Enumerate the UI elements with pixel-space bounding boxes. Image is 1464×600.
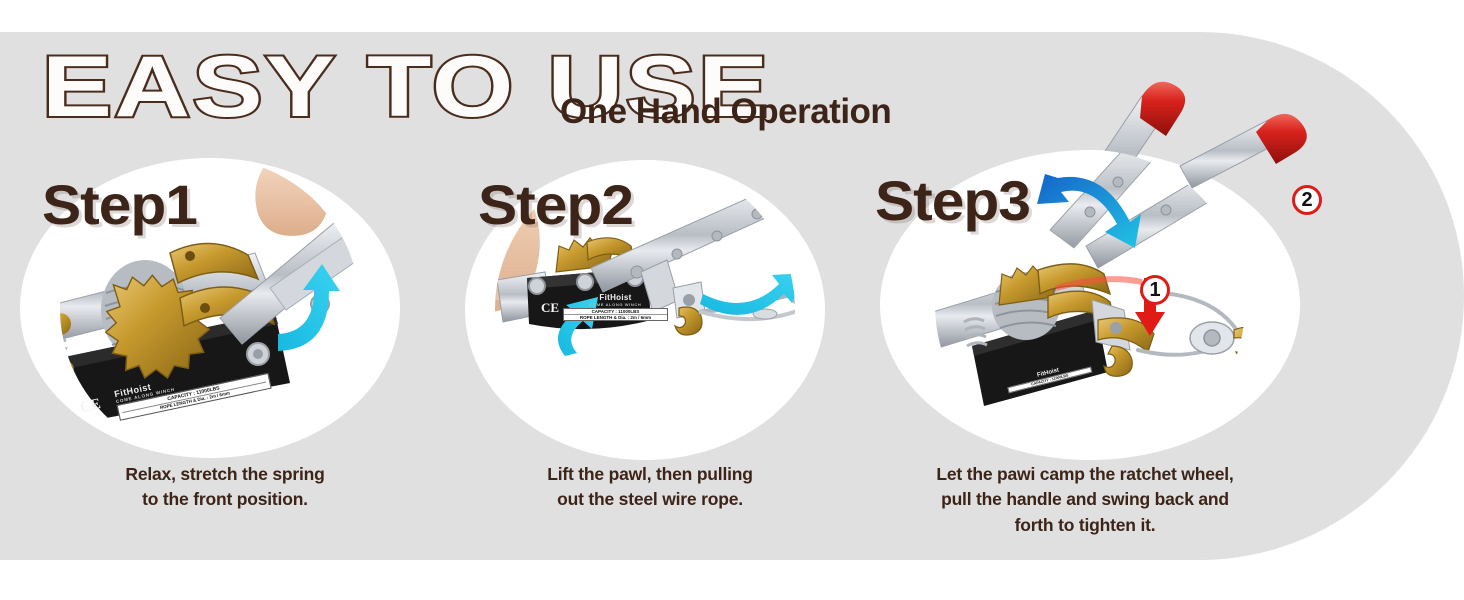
caption-line: Let the pawi camp the ratchet wheel,	[875, 462, 1295, 487]
step-1-caption: Relax, stretch the spring to the front p…	[60, 462, 390, 513]
step-3-caption: Let the pawi camp the ratchet wheel, pul…	[875, 462, 1295, 538]
step-3-label: Step3	[875, 168, 1030, 233]
caption-line: forth to tighten it.	[875, 513, 1295, 538]
caption-line: out the steel wire rope.	[490, 487, 810, 512]
ce-mark: CE	[541, 300, 559, 316]
step-2-caption: Lift the pawl, then pulling out the stee…	[490, 462, 810, 513]
page-subtitle: One Hand Operation	[560, 92, 891, 132]
caption-line: Lift the pawl, then pulling	[490, 462, 810, 487]
caption-line: to the front position.	[60, 487, 390, 512]
infographic-stage: EASY TO USE One Hand Operation	[0, 0, 1464, 600]
label-rope: ROPE LENGTH & Dia. : 2m / 6mm	[564, 315, 667, 320]
brand-subtitle: COME ALONG WINCH	[563, 302, 668, 307]
step-2-product-label: FitHoist COME ALONG WINCH CAPACITY : 110…	[563, 293, 668, 321]
marker-1: 1	[1140, 275, 1170, 305]
step-2-label: Step2	[478, 172, 633, 237]
marker-2: 2	[1292, 185, 1322, 215]
caption-line: pull the handle and swing back and	[875, 487, 1295, 512]
caption-line: Relax, stretch the spring	[60, 462, 390, 487]
step-1-label: Step1	[42, 172, 197, 237]
brand-name: FitHoist	[563, 293, 668, 302]
